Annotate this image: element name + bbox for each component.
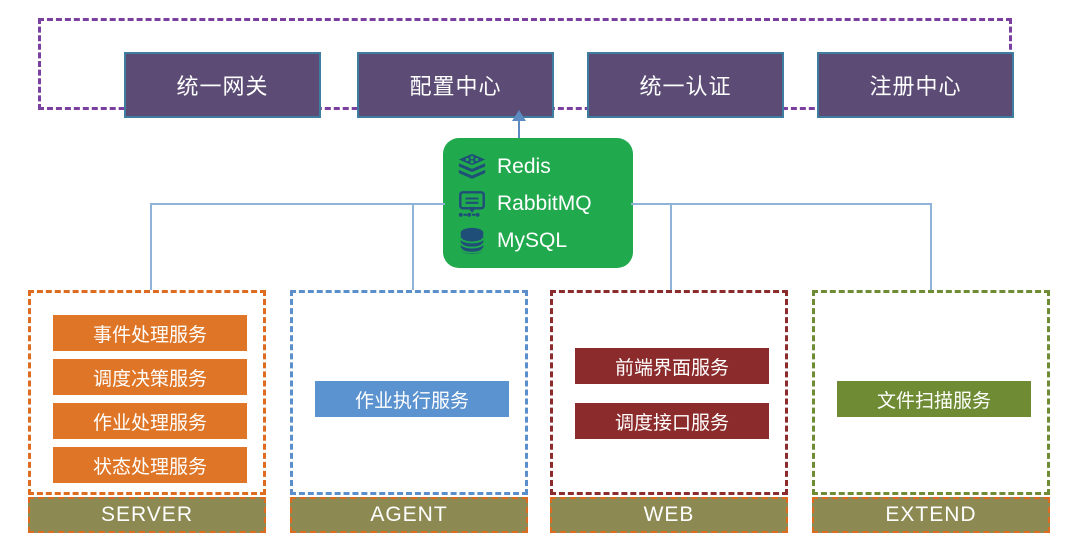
service-label: 作业处理服务 <box>93 408 207 435</box>
middleware-label-rabbitmq: RabbitMQ <box>497 192 592 216</box>
gateway-layer-container: 统一网关 配置中心 统一认证 注册中心 <box>38 18 1012 110</box>
column-agent: 作业执行服务 <box>290 290 528 495</box>
connector-drop-web <box>670 203 672 291</box>
service-label: 前端界面服务 <box>615 353 729 380</box>
column-web: 前端界面服务 调度接口服务 <box>550 290 788 495</box>
connector-middleware-to-gateway <box>518 118 520 139</box>
gateway-box-registry-center[interactable]: 注册中心 <box>817 52 1014 118</box>
middleware-row-mysql: MySQL <box>457 222 633 259</box>
column-extend: 文件扫描服务 <box>812 290 1050 495</box>
gateway-box-label: 配置中心 <box>409 69 501 101</box>
column-footer-label: SERVER <box>101 503 193 527</box>
middleware-label-redis: Redis <box>497 155 551 179</box>
service-box-frontend-ui[interactable]: 前端界面服务 <box>575 348 769 384</box>
column-footer-label: AGENT <box>370 503 447 527</box>
database-cylinder-icon <box>457 226 487 256</box>
middleware-row-redis: Redis <box>457 148 633 185</box>
service-label: 调度决策服务 <box>93 364 207 391</box>
service-box-job-processing[interactable]: 作业处理服务 <box>53 403 247 439</box>
connector-drop-extend <box>930 203 932 291</box>
stacked-layers-icon <box>457 152 487 182</box>
gateway-box-label: 统一认证 <box>639 69 731 101</box>
column-server: 事件处理服务 调度决策服务 作业处理服务 状态处理服务 <box>28 290 266 495</box>
gateway-box-unified-gateway[interactable]: 统一网关 <box>124 52 321 118</box>
service-label: 状态处理服务 <box>93 452 207 479</box>
architecture-diagram: 统一网关 配置中心 统一认证 注册中心 Redis <box>0 0 1080 545</box>
gateway-box-config-center[interactable]: 配置中心 <box>357 52 554 118</box>
middleware-stack-box[interactable]: Redis RabbitMQ <box>443 138 633 268</box>
service-box-status-processing[interactable]: 状态处理服务 <box>53 447 247 483</box>
connector-bus-left <box>150 203 445 205</box>
service-label: 作业执行服务 <box>355 386 469 413</box>
column-footer-web: WEB <box>550 497 788 533</box>
gateway-box-label: 注册中心 <box>869 69 961 101</box>
service-box-scheduling-decision[interactable]: 调度决策服务 <box>53 359 247 395</box>
service-label: 事件处理服务 <box>93 320 207 347</box>
service-box-event-processing[interactable]: 事件处理服务 <box>53 315 247 351</box>
service-box-file-scan[interactable]: 文件扫描服务 <box>837 381 1031 417</box>
service-box-job-execution[interactable]: 作业执行服务 <box>315 381 509 417</box>
column-footer-agent: AGENT <box>290 497 528 533</box>
middleware-row-rabbitmq: RabbitMQ <box>457 185 633 222</box>
column-footer-extend: EXTEND <box>812 497 1050 533</box>
connector-bus-right <box>631 203 931 205</box>
gateway-box-unified-auth[interactable]: 统一认证 <box>587 52 784 118</box>
gateway-box-label: 统一网关 <box>176 69 268 101</box>
middleware-label-mysql: MySQL <box>497 229 567 253</box>
service-label: 文件扫描服务 <box>877 386 991 413</box>
service-label: 调度接口服务 <box>615 408 729 435</box>
message-bubble-icon <box>457 189 487 219</box>
column-footer-server: SERVER <box>28 497 266 533</box>
column-footer-label: EXTEND <box>885 503 976 527</box>
column-footer-label: WEB <box>644 503 695 527</box>
connector-drop-server <box>150 203 152 291</box>
connector-drop-agent <box>412 203 414 291</box>
service-box-scheduling-api[interactable]: 调度接口服务 <box>575 403 769 439</box>
